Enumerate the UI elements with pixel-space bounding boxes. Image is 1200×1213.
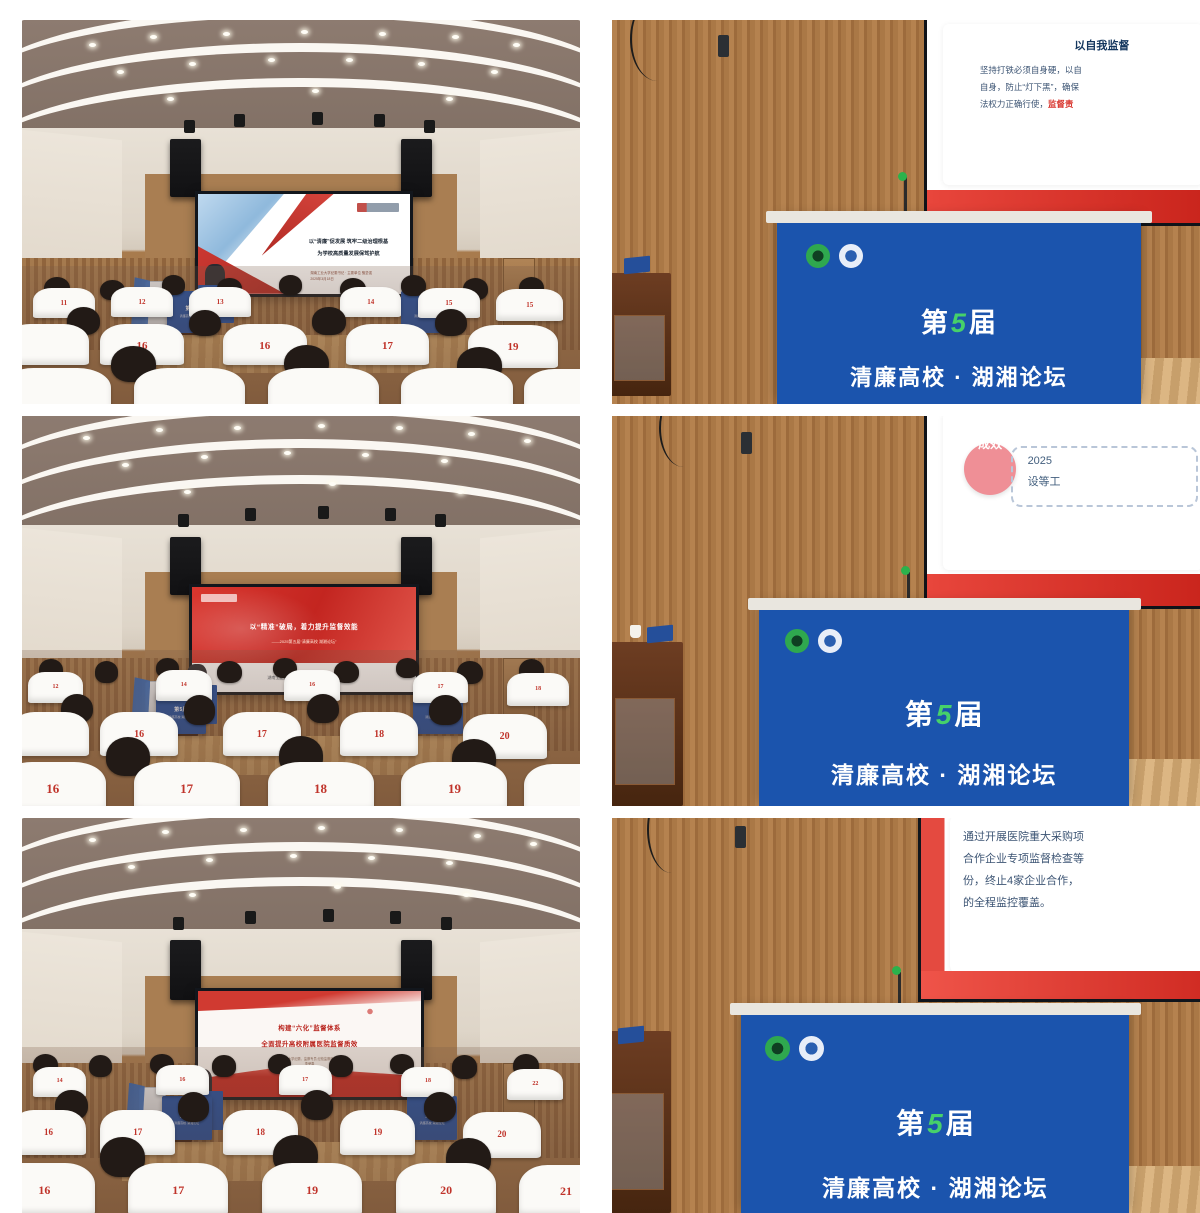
podium-logos	[765, 1036, 824, 1061]
ceiling-downlight	[156, 428, 163, 432]
seat-number: 14	[340, 298, 401, 306]
slide-dashed-box: 2025 设等工	[1011, 446, 1198, 507]
university-logo-icon	[357, 203, 399, 212]
podium-line-1: 第5届	[741, 1102, 1129, 1142]
photo-collage: 以“清廉”促发展 筑牢二级治理根基 为学校高质量发展保驾护航 湖南工业大学纪委书…	[0, 0, 1200, 1200]
wall-switch-icon	[741, 432, 752, 454]
seat-number: 14	[33, 1078, 86, 1084]
seat: 19	[401, 762, 507, 806]
seat-number: 19	[262, 1183, 362, 1198]
ceiling-downlight	[446, 97, 453, 101]
seat-number: 19	[340, 1127, 415, 1137]
seat	[134, 368, 246, 404]
audience-head	[95, 661, 118, 683]
audience-head	[329, 1055, 354, 1077]
seat: 16	[156, 1065, 209, 1095]
podium-desktop-surface	[748, 598, 1141, 610]
stage-spotlight	[184, 120, 195, 133]
line-array-speaker-left	[170, 139, 201, 197]
seat-number: 18	[507, 686, 568, 692]
side-cabinet	[612, 273, 671, 396]
seat-number: 15	[418, 299, 479, 307]
microphone-head-icon	[892, 966, 901, 975]
audience-head	[307, 694, 339, 724]
seat-number: 18	[340, 729, 418, 740]
ceiling-downlight	[318, 826, 325, 830]
audience-head	[89, 1055, 112, 1077]
stage-spotlight	[318, 506, 329, 519]
podium-edition-number: 5	[934, 699, 955, 730]
audience-area: 12 14 16 17 18 16 17	[22, 650, 580, 806]
podium-prefix: 第	[896, 1108, 925, 1139]
name-card	[618, 1026, 644, 1045]
audience-head	[301, 1090, 333, 1120]
podium-desk[interactable]: 第5届 清廉高校 · 湖湘论坛	[759, 607, 1129, 806]
stage-spotlight	[374, 114, 385, 127]
ceiling-downlight	[468, 432, 475, 436]
seat-number: 17	[128, 1183, 228, 1198]
audience-head	[312, 307, 345, 335]
seat	[22, 324, 89, 365]
seat-number: 22	[507, 1081, 563, 1087]
podium-line-1: 第5届	[759, 693, 1129, 733]
audience-head	[452, 1055, 478, 1078]
side-cabinet	[612, 642, 683, 806]
podium-line-2: 清廉高校 · 湖湘论坛	[741, 1169, 1129, 1203]
slide-red-strip	[921, 971, 1200, 999]
photo-panel-top-left[interactable]: 以“清廉”促发展 筑牢二级治理根基 为学校高质量发展保驾护航 湖南工业大学纪委书…	[22, 20, 580, 404]
ceiling-downlight	[396, 828, 403, 832]
seat-number: 16	[22, 1127, 86, 1137]
ceiling-downlight	[474, 834, 481, 838]
stage-spotlight	[245, 508, 256, 521]
ceiling-downlight	[379, 32, 386, 36]
photo-panel-top-right[interactable]: 以自我监督 坚持打铁必须自身硬，以自 自身，防止“灯下黑”，确保 法权力正确行使…	[612, 20, 1200, 404]
line-array-speaker-right	[401, 139, 432, 197]
seat: 18	[268, 762, 374, 806]
ceiling-downlight	[318, 424, 325, 428]
slide-title: 以“精准”破局，着力提升监督效能	[192, 621, 415, 631]
podium-prefix: 第	[921, 308, 949, 338]
seat: 16	[22, 1163, 95, 1213]
seat: 19	[340, 1110, 415, 1155]
seat-number: 16	[156, 1077, 209, 1083]
seat-number: 19	[401, 781, 507, 797]
podium-desktop-surface	[730, 1003, 1141, 1015]
ceiling-downlight	[206, 858, 213, 862]
slide-line: 设等工	[1028, 473, 1061, 489]
slide-body: 通过开展医院重大采购项 合作企业专项监督检查等 份，终止4家企业合作， 的全程监…	[963, 826, 1200, 914]
slide-line: 份，终止4家企业合作，	[963, 870, 1200, 892]
slide-title: 以自我监督	[1008, 37, 1195, 53]
slide-line: 坚持打铁必须自身硬，以自	[980, 62, 1198, 79]
ceiling-downlight	[441, 459, 448, 463]
audience-area: 11 12 13 14 15 15 16	[22, 266, 580, 404]
ceiling-downlight	[530, 842, 537, 846]
stage-spotlight	[323, 909, 334, 922]
ceiling-downlight	[89, 43, 96, 47]
stage-spotlight	[173, 917, 184, 930]
photo-panel-middle-right[interactable]: 成效 2025 设等工	[612, 416, 1200, 806]
seat	[401, 368, 513, 404]
ceiling-downlight	[301, 30, 308, 34]
slide-line: 通过开展医院重大采购项	[963, 826, 1200, 848]
audience-head	[212, 1055, 237, 1077]
slide-line: 合作企业专项监督检查等	[963, 848, 1200, 870]
seat: 15	[496, 289, 563, 321]
cabinet-glass	[614, 315, 665, 381]
seat: 18	[507, 673, 568, 706]
slide-card: 成效 2025 设等工	[943, 416, 1200, 570]
seat-number: 16	[100, 729, 178, 740]
seat-number: 17	[279, 1077, 332, 1083]
audience-head	[217, 661, 242, 683]
seat-number: 15	[496, 301, 563, 309]
seat: 22	[507, 1069, 563, 1101]
seat-number: 20	[396, 1183, 496, 1198]
podium-line-1: 第5届	[777, 301, 1142, 340]
presentation-screen: 以自我监督 坚持打铁必须自身硬，以自 自身，防止“灯下黑”，确保 法权力正确行使…	[924, 20, 1200, 226]
slide-subtitle: ——2025第五届“清廉高校 湖湘论坛”	[192, 639, 415, 645]
seat: 16	[22, 1110, 86, 1155]
seat: 18	[340, 712, 418, 756]
slide-card: 以自我监督 坚持打铁必须自身硬，以自 自身，防止“灯下黑”，确保 法权力正确行使…	[943, 24, 1200, 186]
podium-desk[interactable]: 第5届 清廉高校 · 湖湘论坛	[777, 220, 1142, 404]
podium-suffix: 届	[946, 1108, 975, 1139]
ceiling-downlight	[396, 426, 403, 430]
seat	[268, 368, 380, 404]
stage-spotlight	[424, 120, 435, 133]
seat-number: 12	[111, 298, 172, 306]
stage-spotlight	[178, 514, 189, 527]
seat-number: 17	[413, 684, 469, 690]
seat: 17	[346, 324, 430, 365]
slide-title-line-1: 构建“六化”监督体系	[198, 1023, 421, 1032]
wall-switch-icon	[718, 35, 729, 57]
stage-spotlight	[441, 917, 452, 930]
slide-card: 通过开展医院重大采购项 合作企业专项监督检查等 份，终止4家企业合作， 的全程监…	[950, 818, 1200, 975]
audience-head	[396, 658, 419, 678]
ceiling-downlight	[491, 70, 498, 74]
seat: 14	[340, 287, 401, 317]
status-badge: 成效	[964, 443, 1016, 495]
ceiling-downlight	[201, 455, 208, 459]
ceiling-downlight	[290, 854, 297, 858]
ceiling-downlight	[368, 856, 375, 860]
slide-line: 法权力正确行使，监督责	[980, 96, 1198, 113]
audience-head	[178, 1092, 209, 1122]
presentation-screen: 成效 2025 设等工	[924, 416, 1200, 609]
podium-desk[interactable]: 第5届 清廉高校 · 湖湘论坛	[741, 1012, 1129, 1213]
photo-panel-bottom-left[interactable]: 构建“六化”监督体系 全面提升高校附属医院监督质效 湖南中医药大学纪委、监察专员…	[22, 818, 580, 1213]
seat-number: 18	[268, 781, 374, 797]
seat: 19	[262, 1163, 362, 1213]
audience-head	[184, 695, 215, 725]
seat-number: 18	[401, 1078, 454, 1084]
seat	[22, 712, 89, 756]
seat: 17	[128, 1163, 228, 1213]
seat-number: 12	[28, 684, 84, 690]
podium-suffix: 届	[955, 699, 984, 730]
podium-line-2: 清廉高校 · 湖湘论坛	[759, 756, 1129, 790]
slide-title: 以“清廉”促发展 筑牢二级治理根基	[293, 239, 403, 247]
green-emblem-icon	[765, 1036, 790, 1061]
ceiling-downlight	[167, 97, 174, 101]
podium-logos	[785, 629, 842, 653]
stage-spotlight	[385, 508, 396, 521]
cabinet-glass	[615, 698, 675, 785]
audience-area: 14 16 17 18 22 16 17	[22, 1047, 580, 1213]
seat: 12	[111, 287, 172, 317]
podium-line-2: 清廉高校 · 湖湘论坛	[777, 360, 1142, 392]
seat-number: 16	[22, 1183, 95, 1198]
photo-panel-bottom-right[interactable]: 通过开展医院重大采购项 合作企业专项监督检查等 份，终止4家企业合作， 的全程监…	[612, 818, 1200, 1213]
podium-prefix: 第	[905, 699, 934, 730]
ceiling-downlight	[240, 828, 247, 832]
ceiling-downlight	[463, 893, 470, 897]
ceiling-downlight	[223, 32, 230, 36]
seat-number: 14	[156, 682, 212, 688]
status-badge-label: 成效	[978, 435, 1002, 452]
seat: 20	[396, 1163, 496, 1213]
seat-number: 11	[33, 299, 94, 307]
seat: 21	[519, 1165, 580, 1213]
audience-head	[435, 309, 467, 337]
podium-suffix: 届	[969, 308, 997, 338]
slide-highlight: 监督责	[1048, 99, 1074, 109]
water-cup	[630, 625, 641, 638]
seat: 16	[22, 762, 106, 806]
podium-edition-number: 5	[925, 1108, 946, 1139]
university-logo-icon	[201, 594, 237, 602]
seat-number: 17	[100, 1127, 175, 1137]
seat	[524, 764, 580, 806]
slide-fireworks-graphic	[350, 1002, 390, 1021]
seat-number: 16	[284, 682, 340, 688]
ceiling-downlight	[184, 490, 191, 494]
slide-line: 自身，防止“灯下黑”，确保	[980, 79, 1198, 96]
audience-head	[189, 310, 220, 336]
seat-number: 21	[519, 1184, 580, 1199]
stage-spotlight	[234, 114, 245, 127]
wall-switch-icon	[735, 826, 746, 848]
stage-spotlight	[390, 911, 401, 924]
slide-line: 的全程监控覆盖。	[963, 892, 1200, 914]
slide-body: 坚持打铁必须自身硬，以自 自身，防止“灯下黑”，确保 法权力正确行使，监督责	[980, 62, 1198, 113]
stage-spotlight	[312, 112, 323, 125]
slide-line: 2025	[1028, 455, 1052, 467]
name-card	[647, 625, 673, 644]
name-card	[624, 256, 650, 275]
seat	[524, 369, 580, 404]
university-crest-icon	[799, 1036, 824, 1061]
seat-number: 16	[22, 781, 106, 797]
green-emblem-icon	[785, 629, 809, 653]
university-crest-icon	[839, 244, 863, 268]
seat-number: 13	[189, 298, 250, 306]
side-cabinet	[612, 1031, 671, 1213]
ceiling-downlight	[162, 830, 169, 834]
university-crest-icon	[818, 629, 842, 653]
stage-spotlight	[435, 514, 446, 527]
audience-head	[279, 275, 302, 294]
podium-edition-number: 5	[949, 308, 969, 338]
slide-subtitle: 为学校高质量发展保驾护航	[293, 251, 403, 259]
ceiling-downlight	[117, 70, 124, 74]
podium-desktop-surface	[766, 211, 1152, 223]
seat-number: 17	[346, 340, 430, 352]
audience-head	[424, 1092, 456, 1122]
seat-number: 17	[134, 781, 240, 797]
seat: 17	[134, 762, 240, 806]
cabinet-glass	[612, 1093, 664, 1189]
photo-panel-middle-left[interactable]: 以“精准”破局，着力提升监督效能 ——2025第五届“清廉高校 湖湘论坛” 湖南…	[22, 416, 580, 806]
ceiling-downlight	[89, 838, 96, 842]
microphone-head-icon	[898, 172, 907, 181]
ceiling-downlight	[234, 426, 241, 430]
podium-logos	[806, 244, 863, 268]
stage-spotlight	[245, 911, 256, 924]
green-emblem-icon	[806, 244, 830, 268]
seat	[22, 368, 111, 404]
presentation-screen: 通过开展医院重大采购项 合作企业专项监督检查等 份，终止4家企业合作， 的全程监…	[918, 818, 1200, 1002]
ceiling-downlight	[83, 436, 90, 440]
audience-head	[429, 695, 461, 725]
